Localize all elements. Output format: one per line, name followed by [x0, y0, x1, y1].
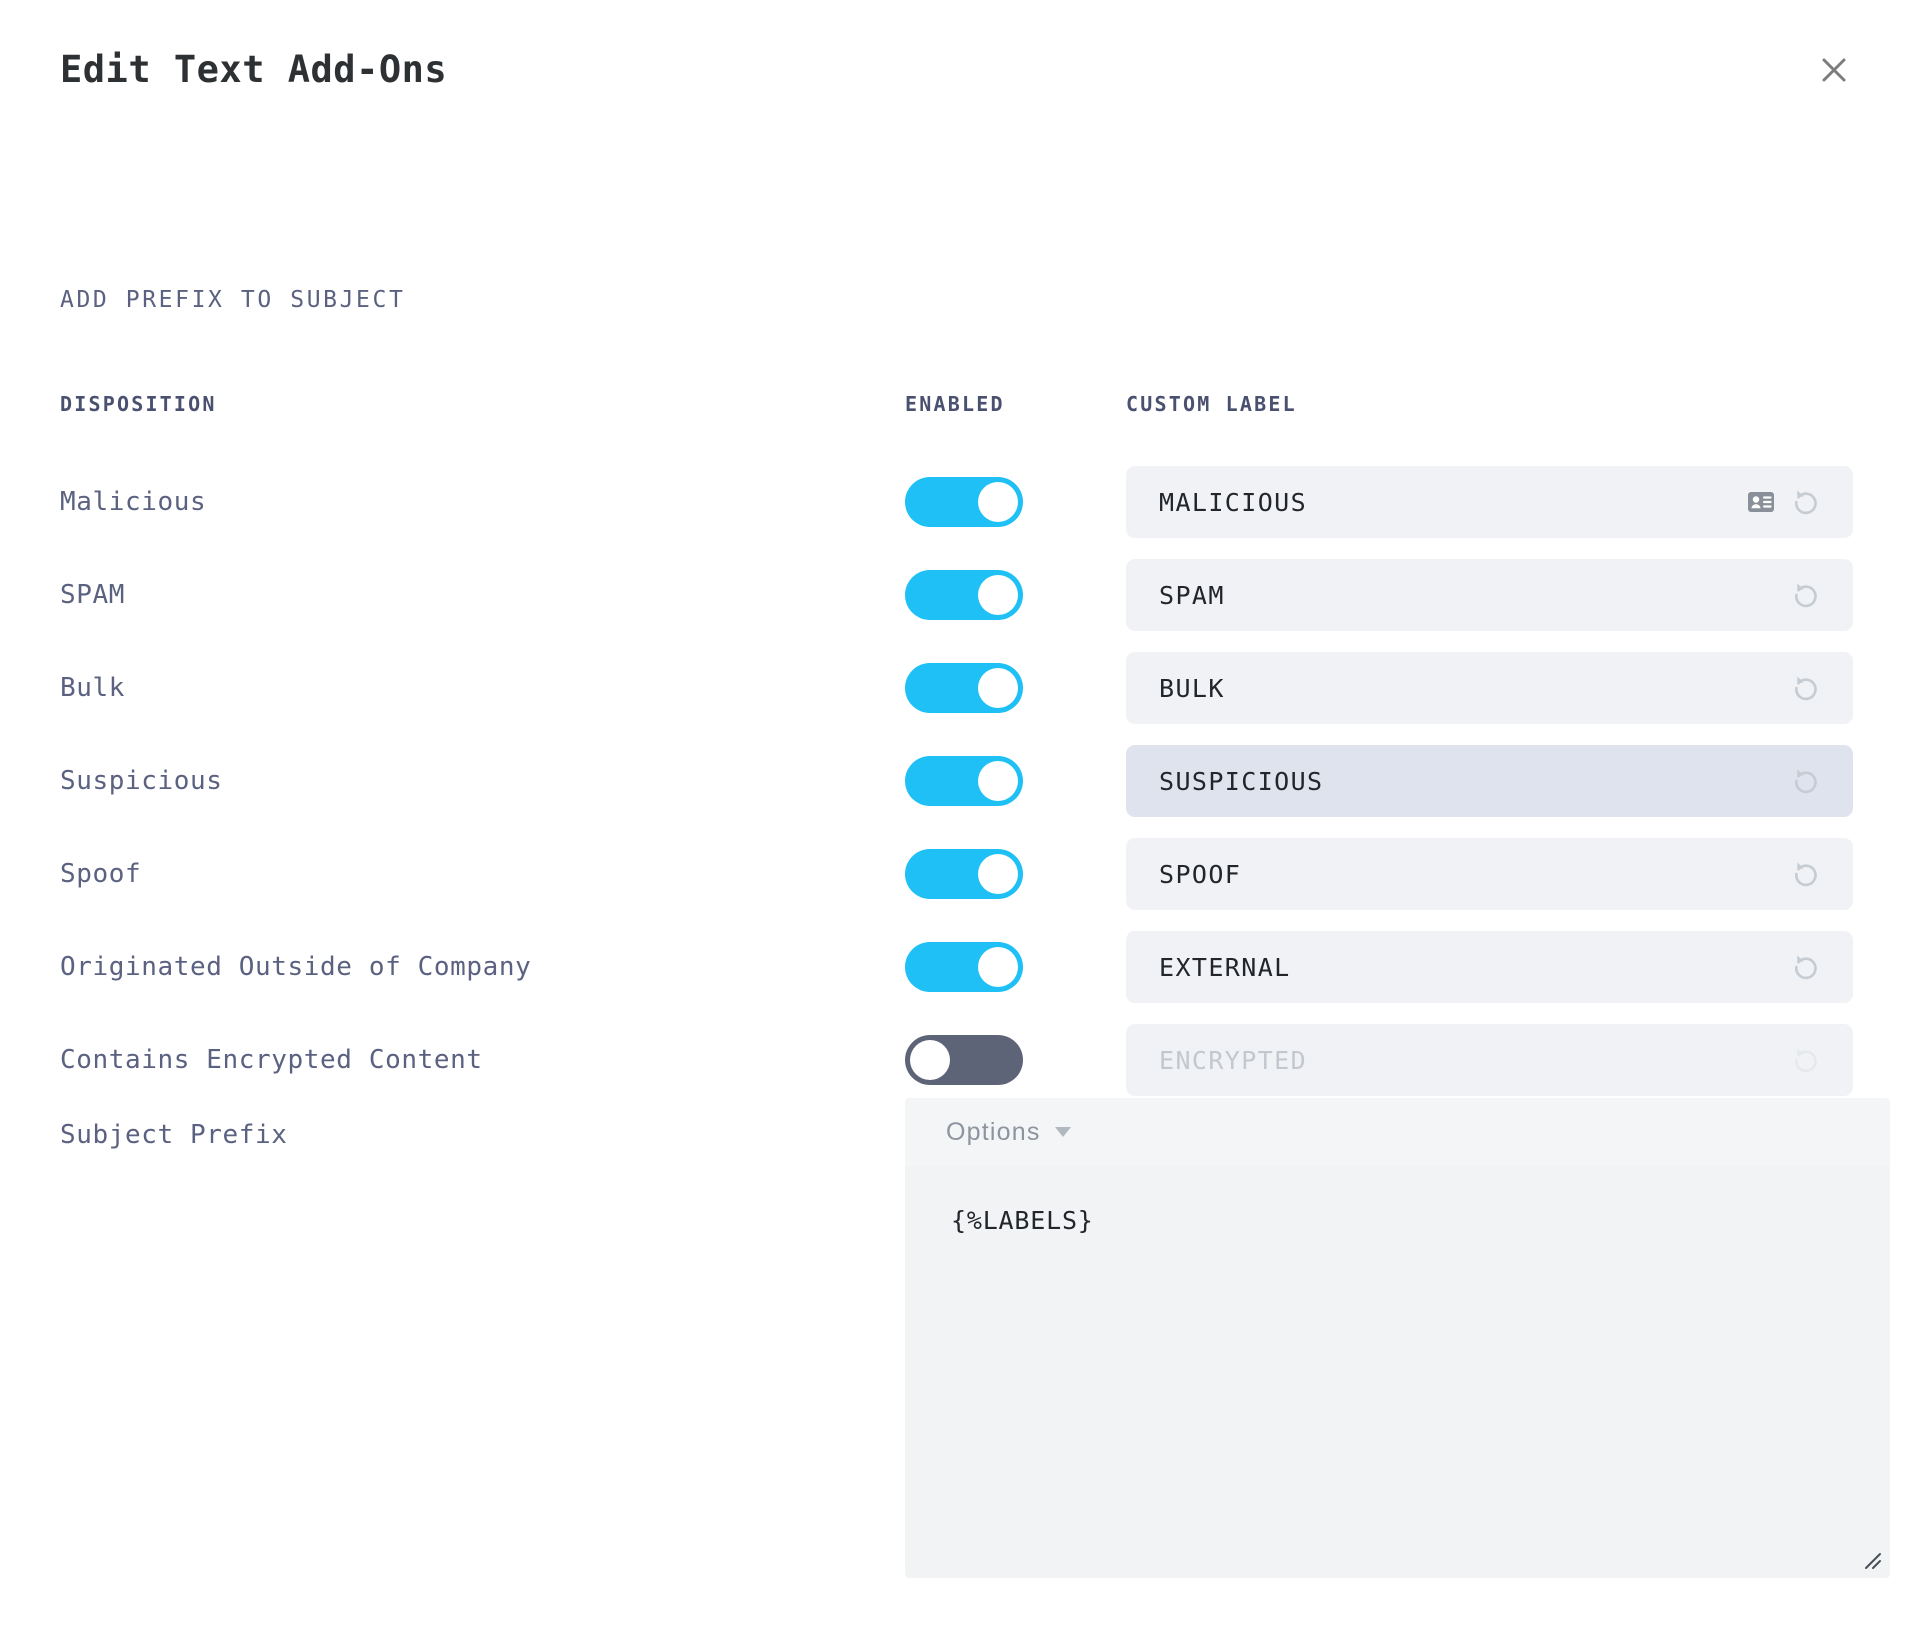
- section-label: ADD PREFIX TO SUBJECT: [60, 287, 405, 313]
- disposition-label: Contains Encrypted Content: [60, 1045, 483, 1075]
- disposition-label: SPAM: [60, 580, 125, 610]
- disposition-label: Suspicious: [60, 766, 223, 796]
- reset-icon[interactable]: [1789, 857, 1823, 891]
- toggle-knob: [978, 482, 1018, 522]
- toggle-knob: [978, 668, 1018, 708]
- column-header-disposition: DISPOSITION: [60, 392, 217, 416]
- enabled-toggle-encrypted[interactable]: [905, 1035, 1023, 1085]
- custom-label-input-bulk[interactable]: BULK: [1126, 652, 1853, 724]
- table-row: SPAMSPAM: [0, 559, 1908, 631]
- subject-prefix-label: Subject Prefix: [60, 1120, 288, 1150]
- options-dropdown-button[interactable]: Options: [905, 1098, 1890, 1166]
- custom-label-input-spam[interactable]: SPAM: [1126, 559, 1853, 631]
- field-icons: [1789, 671, 1853, 705]
- field-icons: [1789, 950, 1853, 984]
- reset-icon[interactable]: [1789, 950, 1823, 984]
- custom-label-input-suspicious[interactable]: SUSPICIOUS: [1126, 745, 1853, 817]
- enabled-toggle-suspicious[interactable]: [905, 756, 1023, 806]
- toggle-knob: [910, 1040, 950, 1080]
- field-icons: [1789, 578, 1853, 612]
- column-header-custom-label: CUSTOM LABEL: [1126, 392, 1297, 416]
- custom-label-input-external[interactable]: EXTERNAL: [1126, 931, 1853, 1003]
- table-row: BulkBULK: [0, 652, 1908, 724]
- toggle-knob: [978, 575, 1018, 615]
- page-title: Edit Text Add-Ons: [60, 48, 447, 91]
- table-row: SuspiciousSUSPICIOUS: [0, 745, 1908, 817]
- reset-icon: [1789, 1043, 1823, 1077]
- enabled-toggle-malicious[interactable]: [905, 477, 1023, 527]
- subject-prefix-value: {%LABELS}: [951, 1206, 1094, 1235]
- options-label: Options: [905, 1118, 1041, 1147]
- custom-label-value: ENCRYPTED: [1126, 1046, 1789, 1075]
- custom-label-value: MALICIOUS: [1126, 488, 1747, 517]
- table-row: Contains Encrypted ContentENCRYPTED: [0, 1024, 1908, 1096]
- custom-label-value: SUSPICIOUS: [1126, 767, 1789, 796]
- custom-label-input-malicious[interactable]: MALICIOUS: [1126, 466, 1853, 538]
- custom-label-value: SPAM: [1126, 581, 1789, 610]
- table-row: SpoofSPOOF: [0, 838, 1908, 910]
- table-row: MaliciousMALICIOUS: [0, 466, 1908, 538]
- field-icons: [1789, 764, 1853, 798]
- reset-icon[interactable]: [1789, 764, 1823, 798]
- reset-icon[interactable]: [1789, 671, 1823, 705]
- enabled-toggle-bulk[interactable]: [905, 663, 1023, 713]
- subject-prefix-textarea[interactable]: {%LABELS}: [905, 1166, 1890, 1578]
- field-icons: [1789, 857, 1853, 891]
- table-row: Originated Outside of CompanyEXTERNAL: [0, 931, 1908, 1003]
- reset-icon[interactable]: [1789, 578, 1823, 612]
- column-header-enabled: ENABLED: [905, 392, 1005, 416]
- enabled-toggle-external[interactable]: [905, 942, 1023, 992]
- custom-label-input-encrypted: ENCRYPTED: [1126, 1024, 1853, 1096]
- resize-handle[interactable]: [1860, 1548, 1882, 1570]
- custom-label-value: SPOOF: [1126, 860, 1789, 889]
- custom-label-input-spoof[interactable]: SPOOF: [1126, 838, 1853, 910]
- chevron-down-icon: [1055, 1127, 1071, 1137]
- disposition-label: Spoof: [60, 859, 141, 889]
- edit-text-addons-dialog: Edit Text Add-Ons ADD PREFIX TO SUBJECT …: [0, 0, 1908, 1650]
- disposition-label: Originated Outside of Company: [60, 952, 531, 982]
- custom-label-value: BULK: [1126, 674, 1789, 703]
- enabled-toggle-spoof[interactable]: [905, 849, 1023, 899]
- toggle-knob: [978, 854, 1018, 894]
- field-icons: [1747, 485, 1853, 519]
- reset-icon[interactable]: [1789, 485, 1823, 519]
- disposition-label: Malicious: [60, 487, 206, 517]
- disposition-label: Bulk: [60, 673, 125, 703]
- toggle-knob: [978, 947, 1018, 987]
- enabled-toggle-spam[interactable]: [905, 570, 1023, 620]
- close-button[interactable]: [1806, 42, 1862, 98]
- field-icons: [1789, 1043, 1853, 1077]
- close-icon: [1819, 55, 1849, 85]
- toggle-knob: [978, 761, 1018, 801]
- custom-label-value: EXTERNAL: [1126, 953, 1789, 982]
- contact-card-icon[interactable]: [1747, 491, 1775, 513]
